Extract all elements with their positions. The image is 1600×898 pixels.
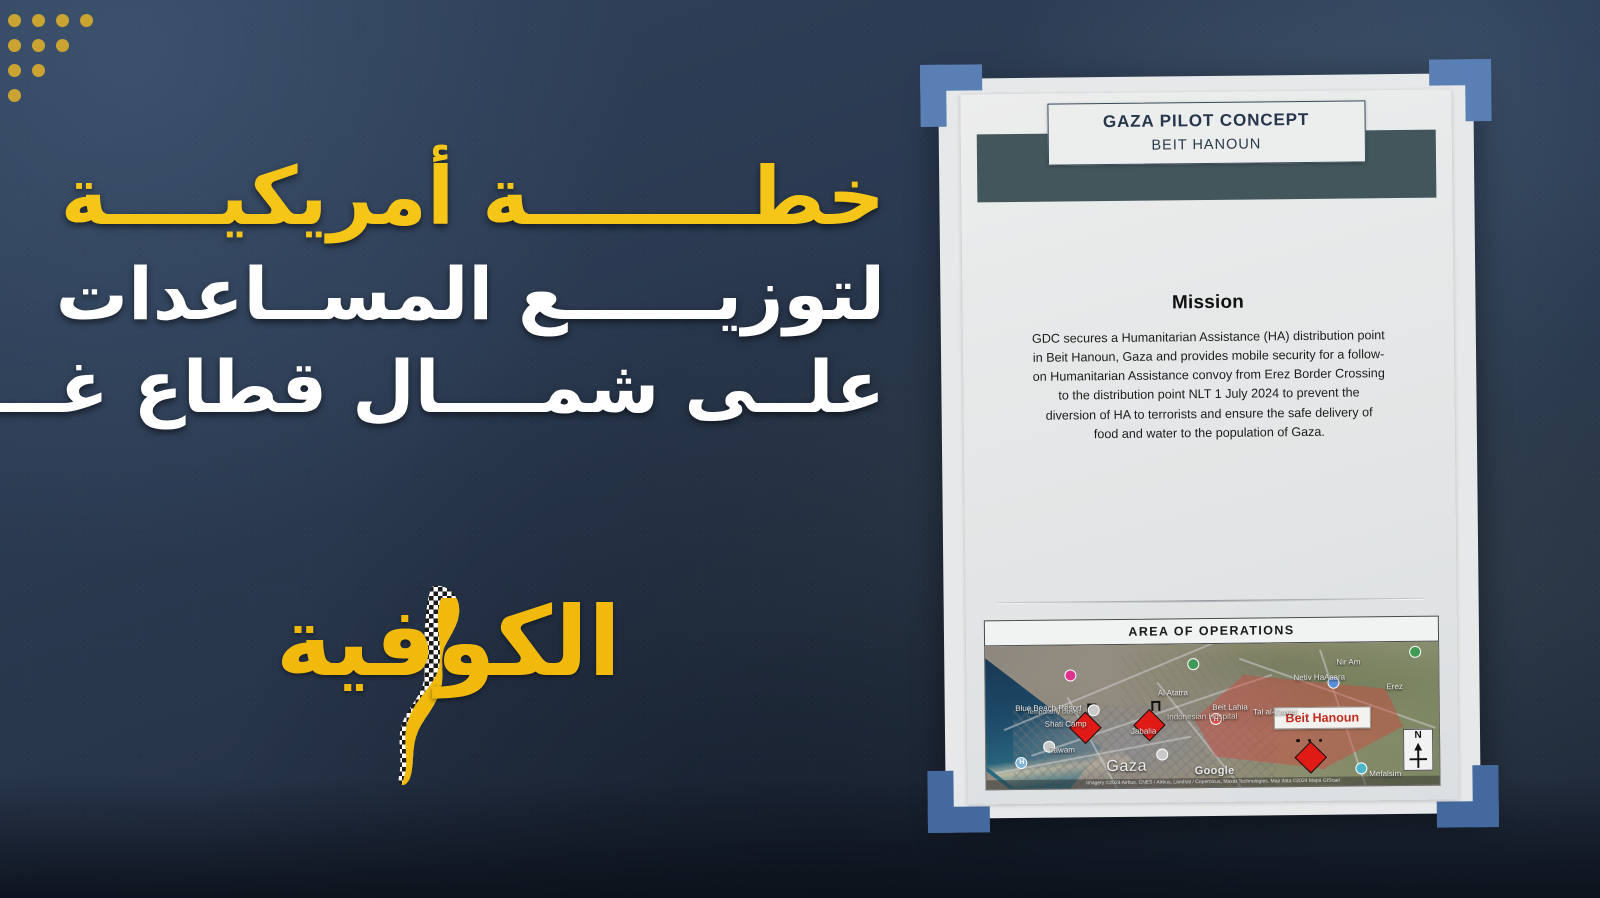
slide-content: GAZA PILOT CONCEPT BEIT HANOUN Mission G… (960, 89, 1458, 804)
map-label-shati-camp: Shati Camp (1045, 719, 1087, 728)
slide-title-main: GAZA PILOT CONCEPT (1058, 109, 1354, 132)
map-poi-resort[interactable] (1088, 704, 1100, 716)
satellite-map[interactable]: Beit Hanoun H H (984, 642, 1440, 791)
decorative-dot (32, 64, 45, 77)
map-label-al-atatra: Al Atatra (1158, 688, 1188, 697)
slide-title-sub: BEIT HANOUN (1058, 135, 1354, 154)
channel-logo-text: الكوفية (276, 594, 621, 690)
decorative-dot (32, 14, 45, 27)
map-poi-park[interactable] (1187, 658, 1199, 670)
decorative-dot (80, 14, 93, 27)
triangular-dot-grid-decoration (8, 14, 128, 114)
map-label-jabalia: Jabalia (1131, 726, 1156, 735)
mission-section: Mission GDC secures a Humanitarian Assis… (992, 290, 1425, 445)
decorative-dot (8, 14, 21, 27)
headline-line-1: خطــــــــة أمريكيــــة (85, 150, 885, 244)
mission-heading: Mission (992, 290, 1423, 317)
area-of-operations-header-label: AREA OF OPERATIONS (1128, 623, 1294, 639)
google-watermark: Google (1195, 765, 1235, 777)
unit-marker-flag-icon (1151, 701, 1160, 711)
map-label-temporarily-closed: Temporarily closed (1027, 708, 1081, 716)
channel-logo: الكوفية (375, 578, 625, 793)
headline-block: خطــــــــة أمريكيــــة لتوزيــــــع الم… (85, 150, 885, 430)
headline-line-3: علــى شمــــال قطاع غـــزة (85, 345, 885, 430)
mission-body: GDC secures a Humanitarian Assistance (H… (993, 326, 1425, 445)
decorative-dot (56, 14, 69, 27)
map-label-gaza: Gaza (1106, 758, 1147, 776)
map-label-nir-am: Nir Am (1336, 657, 1360, 666)
slide-title-box: GAZA PILOT CONCEPT BEIT HANOUN (1047, 100, 1366, 165)
compass-arrow-icon (1407, 741, 1429, 770)
decorative-dot (56, 39, 69, 52)
headline-line-2: لتوزيــــــع المســاعدات (85, 252, 885, 337)
map-label-hospital: Indonesian Hospital (1167, 712, 1237, 722)
map-label-netiv-haasara: Netiv HaAsara (1293, 673, 1345, 683)
map-label-tawam: Tawam (1050, 746, 1075, 755)
compass-north-label: N (1414, 731, 1421, 741)
north-arrow-compass: N (1403, 729, 1433, 771)
map-label-tal-al-zaatar: Tal al-Zaatar (1253, 707, 1298, 716)
map-poi-park[interactable] (1409, 646, 1421, 658)
decorative-dot (8, 64, 21, 77)
area-of-operations-section: AREA OF OPERATIONS Beit Hanoun (984, 616, 1441, 791)
decorative-dot (8, 39, 21, 52)
briefing-slide: GAZA PILOT CONCEPT BEIT HANOUN Mission G… (938, 73, 1481, 819)
section-divider (998, 598, 1425, 604)
decorative-dot (8, 89, 21, 102)
decorative-dot (32, 39, 45, 52)
map-label-erez: Erez (1386, 682, 1403, 691)
